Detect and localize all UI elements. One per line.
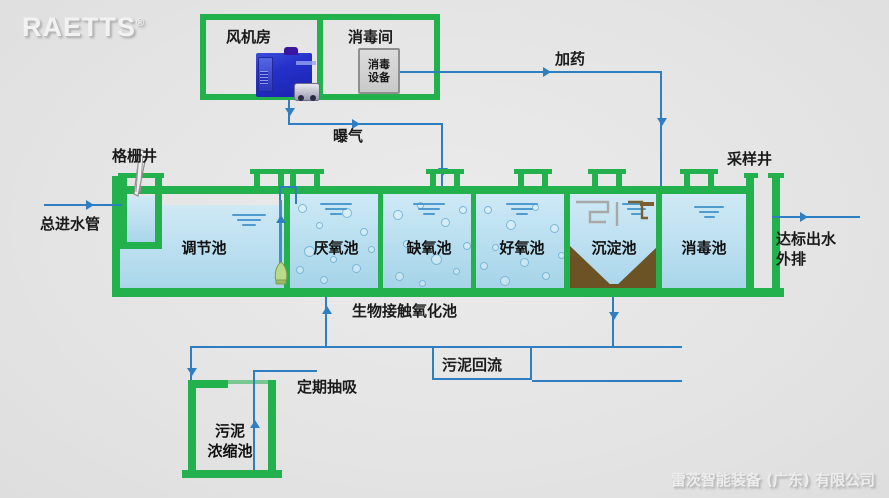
disinfection-equipment-line1: 消毒 — [368, 58, 390, 71]
sludge-drop-arrow — [609, 312, 619, 320]
blower-decal — [296, 61, 316, 65]
wall-disinfection-sampling — [746, 176, 754, 292]
sludge-return-to-bio-riser — [325, 297, 327, 346]
thickener-label-line2: 浓缩池 — [188, 440, 272, 461]
basin-bottom-slab — [112, 288, 784, 297]
sludge-return-label: 污泥回流 — [442, 354, 502, 375]
blower-vent-icon — [260, 71, 268, 85]
grille-well-label: 格栅井 — [112, 145, 157, 166]
dosing-flow-arrow — [543, 67, 551, 77]
sludge-return-feed-line — [532, 380, 682, 382]
bio-contact-oxidation-label: 生物接触氧化池 — [352, 300, 457, 321]
ripple-regulating — [232, 214, 266, 229]
ripple-anoxic — [413, 203, 445, 218]
thickener-top-deck-right — [228, 380, 276, 384]
manhole-cover-2 — [286, 169, 324, 174]
tank-label-anaerobic: 厌氧池 — [290, 237, 382, 258]
manhole-riser-4-right — [542, 172, 548, 188]
raetts-logo: RAETTS® — [22, 12, 145, 43]
aeration-down-arrow-1 — [285, 108, 295, 116]
thickener-bottom — [182, 470, 282, 478]
dosing-pipe-vertical — [660, 71, 662, 192]
submersible-pump-icon — [272, 262, 290, 286]
inlet-flow-arrow — [86, 200, 94, 210]
suction-top-line — [253, 370, 317, 372]
manhole-riser-5-right — [616, 172, 622, 188]
manhole-riser-5-left — [592, 172, 598, 188]
manhole-cover-1 — [250, 169, 288, 174]
manhole-riser-6-right — [708, 172, 714, 188]
blower-outlet-cap — [284, 47, 298, 55]
grille-well-water — [127, 196, 155, 242]
tank-label-sedimentation: 沉淀池 — [570, 237, 658, 258]
manhole-riser-6-left — [684, 172, 690, 188]
disinfection-equipment-box: 消毒 设备 — [358, 48, 400, 94]
manhole-riser-3-left — [430, 172, 436, 188]
sludge-drop-pipe — [612, 297, 614, 346]
aeration-label: 曝气 — [333, 125, 363, 146]
sludge-return-up-arrow — [322, 306, 332, 314]
dosing-down-arrow — [657, 118, 667, 126]
outlet-pipe-line — [772, 216, 860, 218]
manhole-riser-4-left — [518, 172, 524, 188]
manhole-riser-3-right — [454, 172, 460, 188]
disinfection-room-label: 消毒间 — [348, 26, 393, 47]
dosing-pipe-horizontal — [400, 71, 662, 73]
aeration-pipe-horizontal — [288, 123, 443, 125]
tank-label-regulating: 调节池 — [120, 237, 288, 258]
manhole-cover-6 — [680, 169, 718, 174]
manhole-cover-4 — [514, 169, 552, 174]
tank-label-aerobic: 好氧池 — [476, 237, 568, 258]
basin-left-wall — [112, 176, 120, 292]
thickener-top-deck — [188, 380, 228, 388]
sludge-return-top-line — [532, 346, 682, 348]
aeration-pipe-vertical-down — [441, 123, 443, 193]
dosing-label: 加药 — [555, 48, 585, 69]
manhole-cover-3 — [426, 169, 464, 174]
manhole-riser-1-left — [254, 172, 260, 188]
registered-mark: ® — [136, 17, 145, 29]
sampling-well-cover-left — [744, 173, 758, 178]
ripple-anaerobic — [320, 203, 352, 218]
diagram-canvas: RAETTS® 雷茨智能装备 (广东) 有限公司 风机房 消毒间 消毒 设备 加… — [0, 0, 889, 498]
ripple-aerobic — [506, 203, 538, 218]
blower-room-label: 风机房 — [226, 26, 271, 47]
sludge-to-thickener-arrow — [187, 368, 197, 376]
tank-label-disinfection: 消毒池 — [661, 237, 747, 258]
inlet-pipe-line — [44, 204, 122, 206]
ripple-disinfection — [694, 206, 724, 221]
sludge-return-to-bio-line — [190, 346, 434, 348]
manhole-cover-5 — [588, 169, 626, 174]
logo-text: RAETTS — [22, 12, 136, 42]
disinfection-equipment-line2: 设备 — [368, 71, 390, 84]
company-watermark: 雷茨智能装备 (广东) 有限公司 — [671, 469, 875, 490]
blower-motor — [294, 83, 320, 101]
outlet-label-line2: 外排 — [776, 248, 806, 269]
sampling-well-cover-right — [768, 173, 784, 178]
suction-up-arrow — [250, 420, 260, 428]
sampling-well-label: 采样井 — [727, 148, 772, 169]
periodic-suction-label: 定期抽吸 — [297, 376, 357, 397]
pump-flow-arrow — [276, 215, 286, 223]
manhole-riser-2-right — [314, 172, 320, 188]
inlet-pipe-label: 总进水管 — [40, 213, 100, 234]
outlet-label-line1: 达标出水 — [776, 228, 836, 249]
outlet-flow-arrow — [800, 212, 808, 222]
blower-unit — [256, 47, 320, 101]
sedimentation-internals-icon — [572, 196, 658, 236]
tank-label-anoxic: 缺氧池 — [383, 237, 475, 258]
